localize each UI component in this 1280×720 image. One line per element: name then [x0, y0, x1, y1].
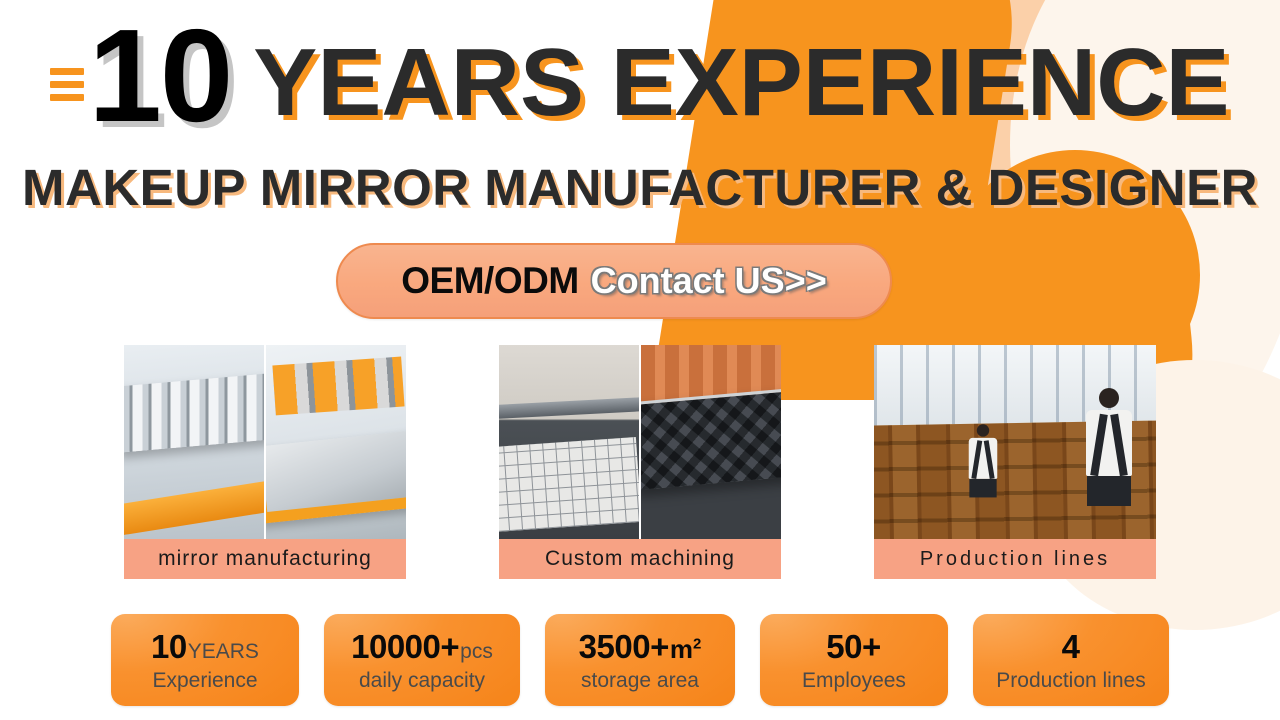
subtitle: MAKEUP MIRROR MANUFACTURER & DESIGNER — [0, 158, 1280, 217]
stat-box-experience[interactable]: 10 YEARS Experience — [111, 614, 299, 706]
headline: 10 YEARS EXPERIENCE — [0, 10, 1280, 142]
photo-pane-full — [874, 345, 1156, 539]
stat-label: Experience — [152, 670, 257, 691]
photo-pane-right — [264, 345, 406, 539]
photo-pane-left — [499, 345, 639, 539]
photo-pane-left — [124, 345, 264, 539]
photo-caption: Production lines — [874, 539, 1156, 579]
stat-unit: YEARS — [188, 641, 259, 662]
headline-text: YEARS EXPERIENCE — [253, 35, 1229, 131]
mirror-manufacturing-photo — [124, 345, 406, 539]
photo-card-row: mirror manufacturing Custom machining — [0, 345, 1280, 579]
photo-caption: Custom machining — [499, 539, 781, 579]
promo-banner: 10 YEARS EXPERIENCE MAKEUP MIRROR MANUFA… — [0, 0, 1280, 720]
stat-label: Employees — [802, 670, 906, 691]
stat-box-storage-area[interactable]: 3500+ m2 storage area — [545, 614, 735, 706]
custom-machining-photo — [499, 345, 781, 539]
stat-label: storage area — [581, 670, 699, 691]
stat-box-employees[interactable]: 50+ Employees — [760, 614, 948, 706]
stat-unit: pcs — [460, 641, 493, 662]
stat-box-daily-capacity[interactable]: 10000+ pcs daily capacity — [324, 614, 520, 706]
stat-number: 10000+ — [351, 630, 459, 663]
stat-label: Production lines — [996, 670, 1145, 691]
stat-box-row: 10 YEARS Experience 10000+ pcs daily cap… — [0, 614, 1280, 706]
photo-card[interactable]: Production lines — [874, 345, 1156, 579]
photo-pane-right — [639, 345, 781, 539]
hamburger-bars-icon — [50, 68, 84, 101]
stat-number: 3500+ — [579, 630, 669, 663]
stat-label: daily capacity — [359, 670, 485, 691]
stat-number: 4 — [1062, 630, 1080, 663]
stat-unit: m2 — [670, 636, 701, 662]
stat-number: 10 — [151, 630, 187, 663]
cta-primary-label: OEM/ODM — [401, 260, 578, 302]
worker-figure — [966, 424, 999, 493]
worker-figure — [1082, 388, 1136, 500]
photo-card[interactable]: Custom machining — [499, 345, 781, 579]
stat-box-production-lines[interactable]: 4 Production lines — [973, 614, 1169, 706]
stat-number: 50+ — [826, 630, 880, 663]
headline-number: 10 — [88, 10, 231, 142]
cta-secondary-label: Contact US>> — [591, 260, 827, 302]
production-lines-photo — [874, 345, 1156, 539]
photo-card[interactable]: mirror manufacturing — [124, 345, 406, 579]
photo-caption: mirror manufacturing — [124, 539, 406, 579]
oem-odm-contact-button[interactable]: OEM/ODM Contact US>> — [336, 243, 892, 319]
